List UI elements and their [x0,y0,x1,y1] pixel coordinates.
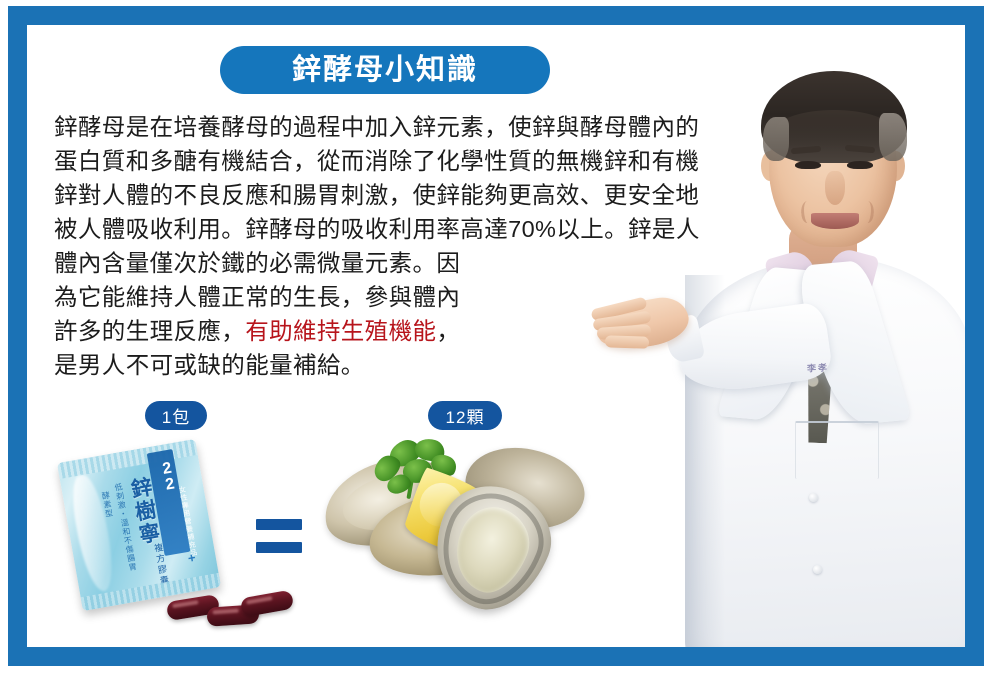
body-line-7-tail: ， [436,318,460,344]
doctor-hair-gray-right [879,113,907,161]
doctor-eye-left [795,161,821,169]
capsule-group [167,588,277,634]
poster-content: 鋅酵母小知識 鋅酵母是在培養酵母的過程中加入鋅元素，使鋅與酵母體內的 蛋白質和多… [27,25,965,647]
doctor-coat-button [813,565,822,574]
badge-twelve-oysters-label: 12顆 [446,403,485,428]
doctor-nose [825,171,845,205]
doctor-photo: 李孝 [563,25,965,647]
product-sachet-group: 22 女性專用營養補充品 鋅樹寧 低刺激・溫和不傷腸胃 酵素型 複方膠囊 + [55,440,245,630]
capsule [240,590,295,618]
page-title: 鋅酵母小知識 [292,56,478,85]
badge-twelve-oysters: 12顆 [428,401,502,430]
badge-one-pack-label: 1包 [162,403,190,428]
oyster-group [317,433,577,623]
doctor-mouth [811,213,859,229]
doctor-hair-gray-left [763,117,789,161]
doctor-coat-button [809,493,818,502]
equals-icon [256,519,302,553]
doctor-eye-right [847,161,873,169]
doctor-coat-pocket [795,421,879,479]
poster-root: 鋅酵母小知識 鋅酵母是在培養酵母的過程中加入鋅元素，使鋅與酵母體內的 蛋白質和多… [0,0,1000,678]
title-banner: 鋅酵母小知識 [220,46,550,94]
badge-one-pack: 1包 [145,401,207,430]
product-sachet: 22 女性專用營養補充品 鋅樹寧 低刺激・溫和不傷腸胃 酵素型 複方膠囊 + [57,439,221,611]
doctor-coat-embroidery: 李孝 [807,360,830,374]
highlight-claim: 有助維持生殖機能 [245,318,436,344]
doctor-finger [605,335,649,349]
body-line-7-lead: 許多的生理反應， [54,318,245,344]
